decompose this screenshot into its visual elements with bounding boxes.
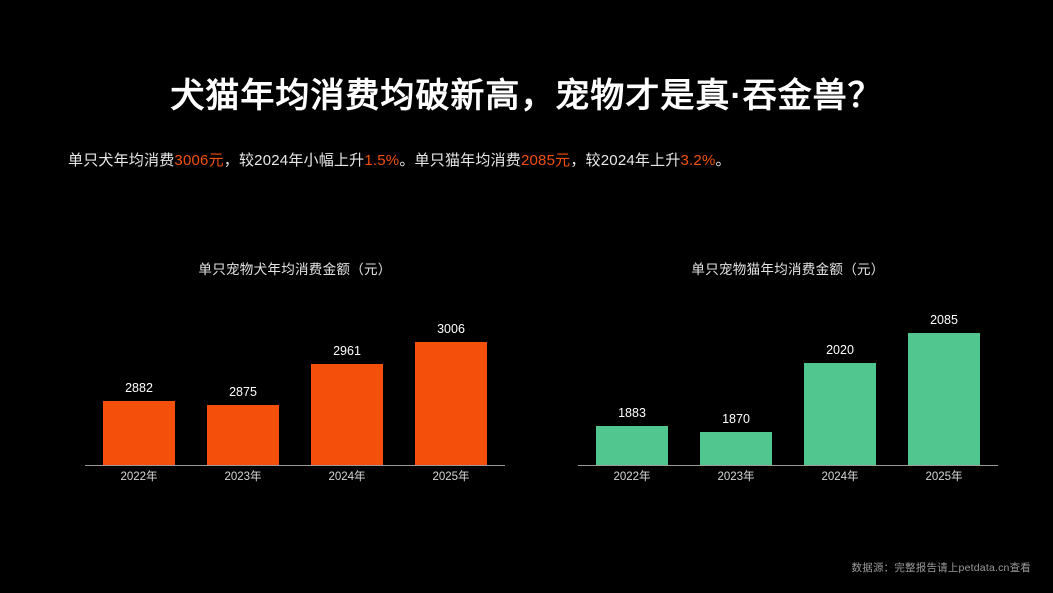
cat-bar-slot[interactable]: 20202024年: [804, 296, 876, 465]
cat-chart-title: 单只宠物猫年均消费金额（元）: [573, 258, 1003, 278]
dog-x-tick-label: 2025年: [432, 468, 469, 484]
dog-bar-slot[interactable]: 29612024年: [311, 296, 383, 465]
dog-x-tick-label: 2022年: [120, 468, 157, 484]
subtitle-highlight-cat-growth: 3.2%: [681, 152, 716, 169]
subtitle-highlight-dog-amount: 3006元: [174, 152, 223, 169]
dog-bar-value: 2882: [125, 381, 153, 395]
cat-x-tick-label: 2022年: [613, 468, 650, 484]
cat-bar-value: 1883: [618, 406, 646, 420]
cat-bar-value: 2085: [930, 313, 958, 327]
slide-root: 犬猫年均消费均破新高，宠物才是真·吞金兽？ 单只犬年均消费3006元，较2024…: [0, 0, 1053, 593]
subtitle-highlight-dog-growth: 1.5%: [364, 152, 399, 169]
cat-x-tick-label: 2024年: [821, 468, 858, 484]
cat-bar-value: 2020: [826, 343, 854, 357]
dog-bar-value: 2961: [333, 344, 361, 358]
cat-bar[interactable]: [908, 333, 980, 465]
dog-x-tick-label: 2024年: [328, 468, 365, 484]
cat-chart-plot: 18832022年18702023年20202024年20852025年: [578, 296, 998, 484]
source-note: 数据源：完整报告请上petdata.cn查看: [852, 560, 1031, 575]
cat-bar[interactable]: [700, 432, 772, 464]
subtitle-seg-4: ，较2024年上升: [570, 152, 680, 169]
cat-bar[interactable]: [596, 426, 668, 464]
dog-bar-slot[interactable]: 30062025年: [415, 296, 487, 465]
dog-bar[interactable]: [207, 405, 279, 465]
dog-chart-plot: 28822022年28752023年29612024年30062025年: [85, 296, 505, 484]
dog-chart: 单只宠物犬年均消费金额（元） 28822022年28752023年2961202…: [80, 258, 510, 508]
cat-x-tick-label: 2023年: [717, 468, 754, 484]
subtitle-seg-5: 。: [716, 152, 731, 169]
dog-bar[interactable]: [311, 364, 383, 465]
dog-x-tick-label: 2023年: [224, 468, 261, 484]
subtitle: 单只犬年均消费3006元，较2024年小幅上升1.5%。单只猫年均消费2085元…: [68, 149, 731, 170]
cat-x-tick-label: 2025年: [925, 468, 962, 484]
dog-bar-value: 3006: [437, 322, 465, 336]
dog-chart-axis: [85, 465, 505, 467]
subtitle-highlight-cat-amount: 2085元: [521, 152, 570, 169]
dog-bar-slot[interactable]: 28752023年: [207, 296, 279, 465]
subtitle-seg-1: 单只犬年均消费: [68, 152, 174, 169]
cat-bar[interactable]: [804, 363, 876, 465]
dog-bar[interactable]: [415, 342, 487, 464]
cat-bar-slot[interactable]: 18702023年: [700, 296, 772, 465]
cat-bar-slot[interactable]: 18832022年: [596, 296, 668, 465]
cat-bar-value: 1870: [722, 412, 750, 426]
page-title: 犬猫年均消费均破新高，宠物才是真·吞金兽？: [0, 68, 1053, 117]
dog-bar-value: 2875: [229, 385, 257, 399]
cat-chart: 单只宠物猫年均消费金额（元） 18832022年18702023年2020202…: [573, 258, 1003, 508]
dog-chart-title: 单只宠物犬年均消费金额（元）: [80, 258, 510, 278]
dog-bar-slot[interactable]: 28822022年: [103, 296, 175, 465]
subtitle-seg-3: 。单只猫年均消费: [399, 152, 521, 169]
dog-bar[interactable]: [103, 401, 175, 464]
subtitle-seg-2: ，较2024年小幅上升: [224, 152, 365, 169]
cat-bar-slot[interactable]: 20852025年: [908, 296, 980, 465]
cat-chart-axis: [578, 465, 998, 467]
dog-bar-group: 28822022年28752023年29612024年30062025年: [103, 296, 487, 465]
cat-bar-group: 18832022年18702023年20202024年20852025年: [596, 296, 980, 465]
